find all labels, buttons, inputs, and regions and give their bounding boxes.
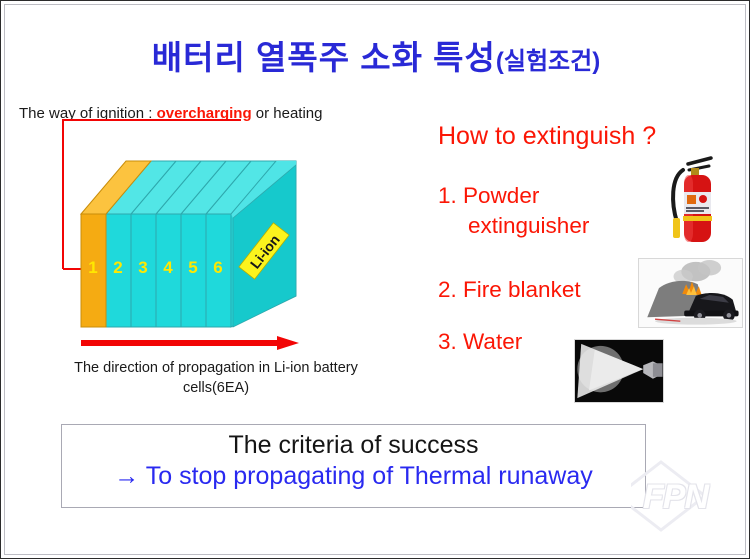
criteria-title: The criteria of success: [62, 431, 645, 460]
water-spray-nozzle-image: [574, 339, 664, 403]
ignition-suffix: or heating: [252, 105, 323, 122]
page-title-parenthetical: (실험조건): [496, 48, 600, 75]
criteria-box: The criteria of success → To stop propag…: [61, 424, 646, 508]
svg-text:4: 4: [163, 258, 173, 277]
battery-diagram-caption: The direction of propagation in Li-ion b…: [21, 359, 411, 398]
watermark-diamond-icon: [631, 456, 741, 536]
car-fire-blanket-image: [638, 258, 743, 328]
caption-line-2: cells(6EA): [21, 379, 411, 399]
propagation-direction-arrow: [79, 336, 309, 350]
svg-text:6: 6: [213, 258, 222, 277]
watermark: FPN: [631, 456, 741, 536]
method-2-number: 2.: [438, 277, 457, 302]
battery-diagram: 1 2 3 4 5 6 Li-ion: [41, 126, 371, 351]
watermark-text: FPN: [643, 478, 708, 517]
extinguish-method-1: 1. Powder extinguisher: [438, 181, 638, 242]
extinguish-method-3: 3. Water: [438, 327, 522, 357]
page-title: 배터리 열폭주 소화 특성(실험조건): [1, 31, 750, 79]
extinguish-heading: How to extinguish ?: [438, 122, 656, 151]
method-1-number: 1.: [438, 183, 457, 208]
criteria-arrow-icon: →: [114, 462, 139, 490]
battery-cell-stack: 1 2 3 4 5 6 Li-ion: [76, 151, 306, 331]
method-3-number: 3.: [438, 329, 457, 354]
svg-text:5: 5: [188, 258, 197, 277]
criteria-subtitle-text: To stop propagating of Thermal runaway: [146, 462, 593, 490]
svg-text:1: 1: [88, 258, 97, 277]
powder-fire-extinguisher-image: [661, 148, 723, 248]
extinguish-method-2: 2. Fire blanket: [438, 275, 581, 305]
method-2-label: Fire blanket: [463, 277, 581, 302]
criteria-subtitle: → To stop propagating of Thermal runaway: [62, 462, 645, 491]
slide-canvas: 배터리 열폭주 소화 특성(실험조건) The way of ignition …: [0, 0, 750, 559]
svg-text:2: 2: [113, 258, 122, 277]
caption-line-1: The direction of propagation in Li-ion b…: [21, 359, 411, 379]
page-title-main: 배터리 열폭주 소화 특성: [152, 39, 496, 76]
method-3-label: Water: [463, 329, 522, 354]
svg-text:3: 3: [138, 258, 147, 277]
method-1-label-cont: extinguisher: [468, 211, 638, 241]
method-1-label: Powder: [463, 183, 539, 208]
